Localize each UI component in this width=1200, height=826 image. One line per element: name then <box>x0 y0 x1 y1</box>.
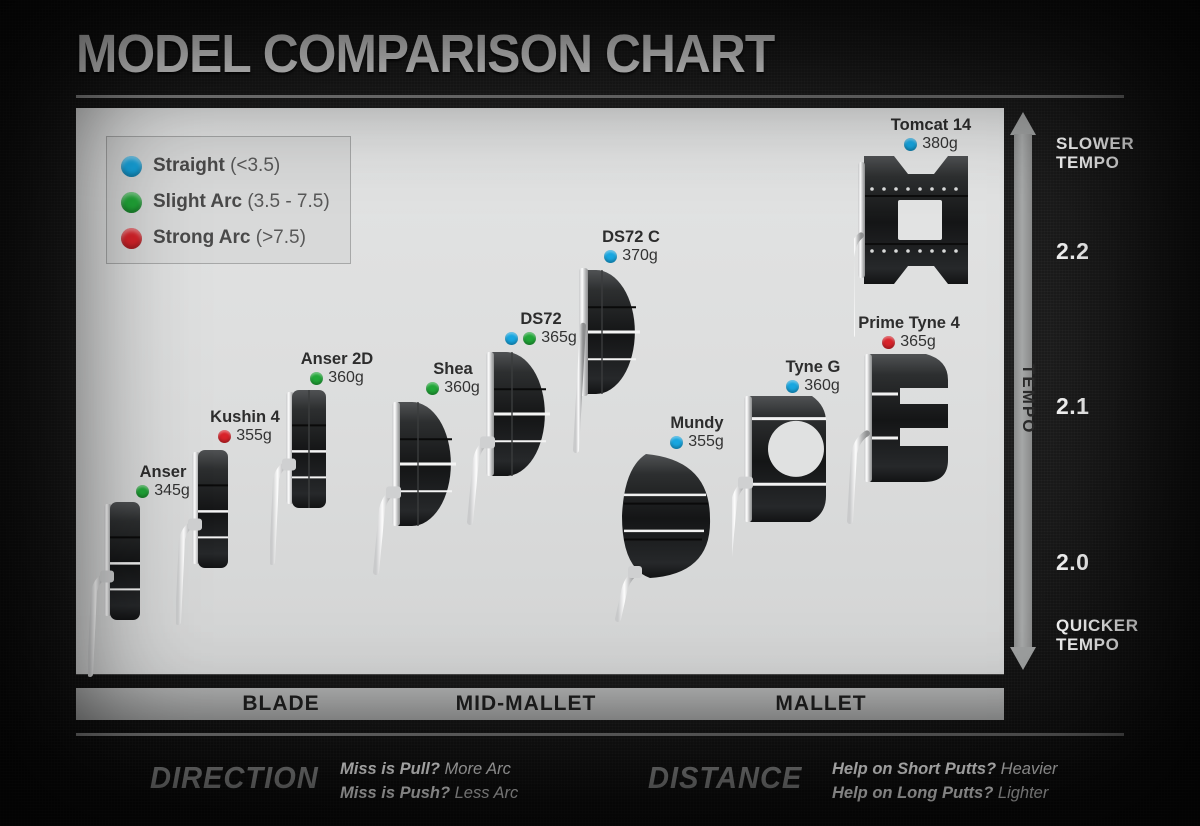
putter-arc-dot-straight <box>670 436 683 449</box>
tempo-axis: TEMPO <box>1010 112 1036 670</box>
putter-head-graphic <box>372 396 462 576</box>
putter-arc-dot-slight <box>523 332 536 345</box>
legend-item-slight-arc: Slight Arc (3.5 - 7.5) <box>121 184 350 220</box>
legend-label-slight-arc: Slight Arc <box>153 191 242 212</box>
putter-head-graphic <box>732 392 832 572</box>
legend-range-strong-arc: (>7.5) <box>256 227 306 248</box>
footer-divider <box>76 733 1124 736</box>
putter-name: DS72 C <box>566 228 696 246</box>
putter-head-graphic <box>270 386 344 566</box>
footer-distance-lines: Help on Short Putts? Heavier Help on Lon… <box>832 757 1058 805</box>
legend-dot-straight <box>121 156 142 177</box>
axis-tick-2-1: 2.1 <box>1056 393 1089 420</box>
putter-arc-dot-straight <box>505 332 518 345</box>
putter-head-graphic <box>614 448 722 623</box>
putter-weight: 355g <box>236 428 272 444</box>
putter-weight: 380g <box>922 136 958 152</box>
putter-head-graphic <box>854 152 974 337</box>
putter-head-graphic <box>176 446 246 626</box>
putter-arc-dot-strong <box>218 430 231 443</box>
putter-weight: 360g <box>328 370 364 386</box>
footer-direction-heading: DIRECTION <box>150 760 319 796</box>
chart-panel: Straight (<3.5) Slight Arc (3.5 - 7.5) S… <box>76 108 1004 674</box>
putter-arc-weight-row: 380g <box>866 136 996 152</box>
axis-arrow-up-icon <box>1010 112 1036 135</box>
putter-arc-dot-straight <box>786 380 799 393</box>
category-mallet: MALLET <box>686 688 956 720</box>
footer-direction-lines: Miss is Pull? More Arc Miss is Push? Les… <box>340 757 518 805</box>
putter-label: Anser 2D360g <box>272 350 402 386</box>
putter-arc-dot-slight <box>310 372 323 385</box>
axis-title: TEMPO <box>1008 364 1038 434</box>
legend-item-straight: Straight (<3.5) <box>121 148 350 184</box>
chart-root: MODEL COMPARISON CHART Straight (<3.5) S… <box>0 0 1200 826</box>
category-bar: BLADE MID-MALLET MALLET <box>76 688 1004 720</box>
legend-label-straight: Straight <box>153 155 225 176</box>
putter-arc-weight-row: 360g <box>272 370 402 386</box>
axis-top-label: SLOWERTEMPO <box>1056 134 1134 172</box>
axis-arrow-down-icon <box>1010 647 1036 670</box>
putter-name: Anser 2D <box>272 350 402 368</box>
page-title: MODEL COMPARISON CHART <box>76 27 774 81</box>
legend-dot-strong-arc <box>121 228 142 249</box>
axis-bottom-label: QUICKERTEMPO <box>1056 616 1139 654</box>
putter-label: DS72 C370g <box>566 228 696 264</box>
legend-range-straight: (<3.5) <box>230 155 280 176</box>
putter-label: Tomcat 14380g <box>866 116 996 152</box>
putter-name: Tomcat 14 <box>866 116 996 134</box>
legend-box: Straight (<3.5) Slight Arc (3.5 - 7.5) S… <box>106 136 351 264</box>
putter-arc-dot-slight <box>426 382 439 395</box>
legend-range-slight-arc: (3.5 - 7.5) <box>247 191 329 212</box>
putter-head-graphic <box>88 498 158 678</box>
putter-weight: 370g <box>622 248 658 264</box>
putter-arc-dot-straight <box>904 138 917 151</box>
title-divider <box>76 95 1124 98</box>
putter-arc-weight-row: 370g <box>566 248 696 264</box>
putter-arc-dot-strong <box>882 336 895 349</box>
category-mid-mallet: MID-MALLET <box>376 688 676 720</box>
legend-item-strong-arc: Strong Arc (>7.5) <box>121 220 350 256</box>
putter-arc-dot-straight <box>604 250 617 263</box>
putter-head-graphic <box>846 350 956 525</box>
legend-dot-slight-arc <box>121 192 142 213</box>
axis-tick-2-0: 2.0 <box>1056 549 1089 576</box>
legend-label-strong-arc: Strong Arc <box>153 227 250 248</box>
footer-distance-heading: DISTANCE <box>648 760 802 796</box>
putter-head-graphic <box>466 346 556 526</box>
axis-tick-2-2: 2.2 <box>1056 238 1089 265</box>
putter-arc-dot-slight <box>136 485 149 498</box>
